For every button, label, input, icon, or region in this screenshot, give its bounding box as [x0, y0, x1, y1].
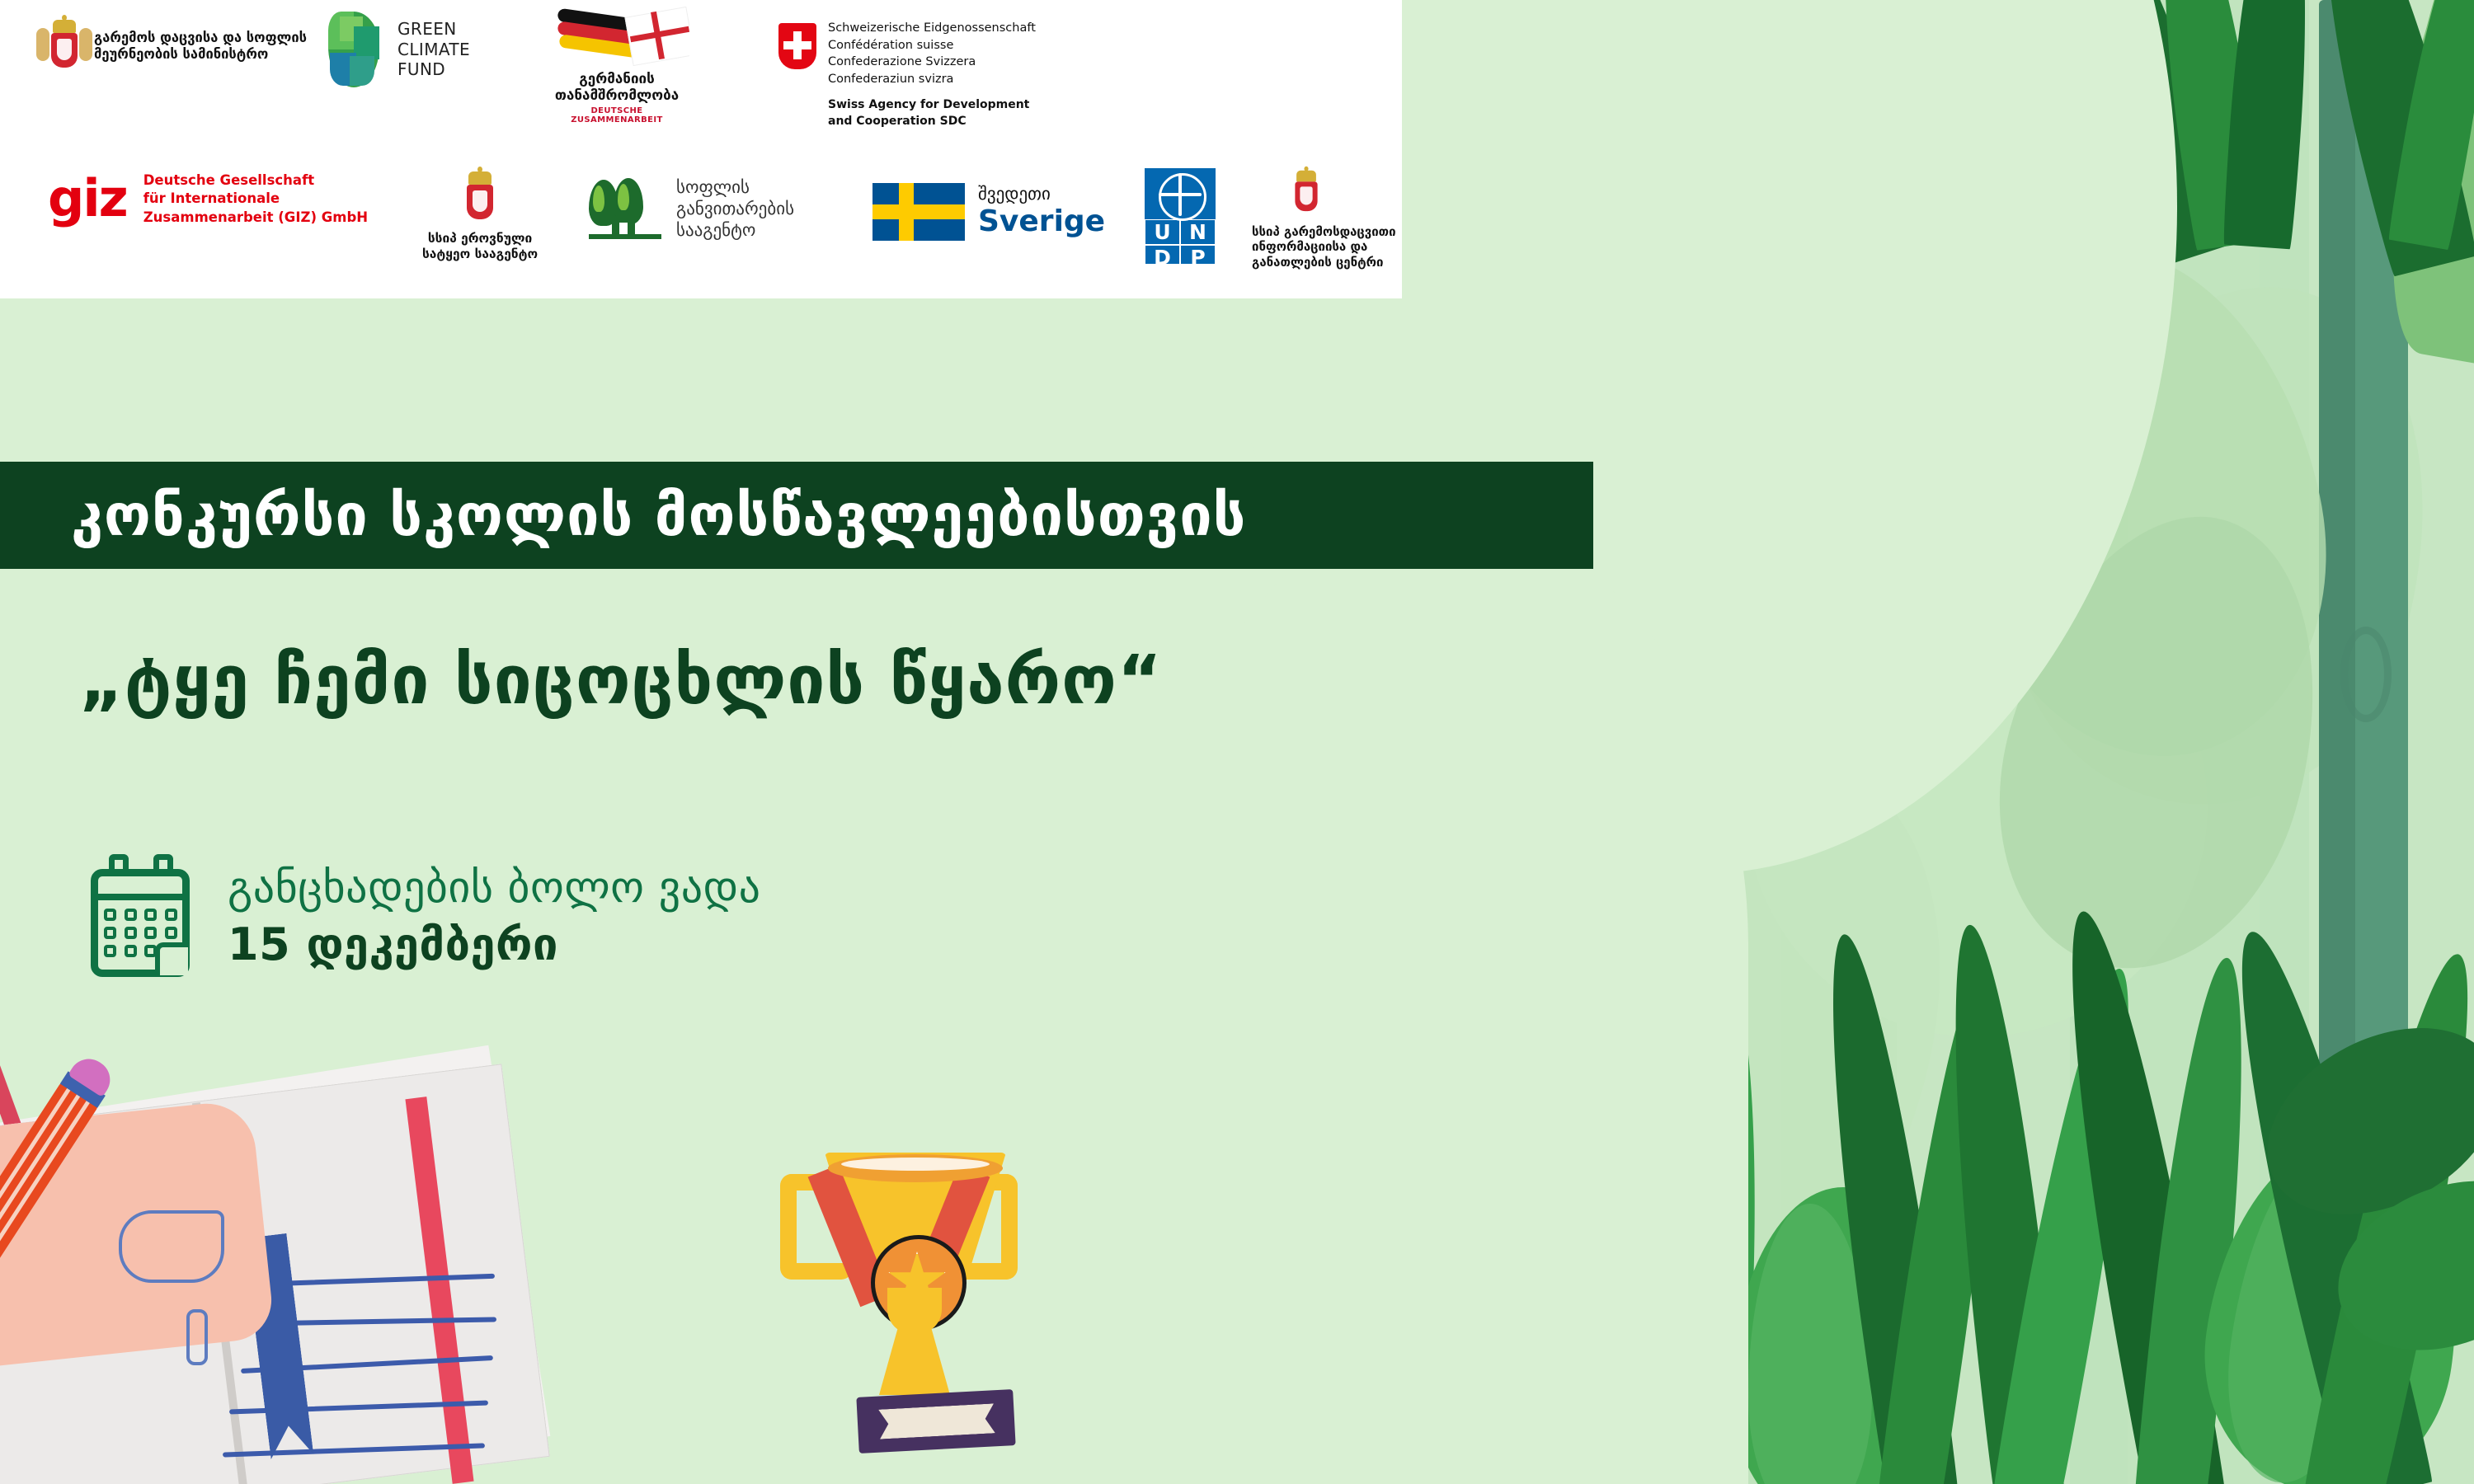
knuckle-line [119, 1210, 224, 1283]
logo-caption-line: განვითარების [676, 198, 794, 219]
undp-logo-icon: U N D P [1145, 168, 1216, 264]
logo-caption-line: FUND [397, 59, 470, 79]
calendar-icon [91, 857, 190, 977]
sweden-flag-icon [872, 183, 965, 241]
logo-caption-line: Deutsche Gesellschaft [143, 171, 368, 190]
giz-wordmark: giz [48, 177, 127, 221]
logo-caption-line: განათლების ცენტრი [1252, 255, 1396, 270]
logo-caption-line: für Internationale [143, 190, 368, 208]
undp-letter: P [1180, 245, 1216, 270]
gcf-gem-icon [322, 10, 386, 89]
logo-environmental-information-education-centre: სსიპ გარემოსდაცვითი ინფორმაციისა და განა… [1252, 167, 1396, 270]
undp-letter: N [1180, 219, 1216, 245]
logo-subcaption: DEUTSCHE ZUSAMMENARBEIT [544, 106, 689, 124]
logo-undp: U N D P [1145, 168, 1216, 264]
deadline-block: განცხადების ბოლო ვადა 15 დეკემბერი [91, 857, 761, 977]
logo-caption-line: სატყეო სააგენტო [422, 247, 538, 262]
logo-ministry-of-environmental-protection: გარემოს დაცვისა და სოფლის მეურნეობის სამ… [46, 20, 307, 73]
logo-caption-line: Confederazione Svizzera [828, 54, 1036, 71]
logo-swiss-agency-sdc: Schweizerische Eidgenossenschaft Confédé… [778, 20, 1036, 130]
gold-trophy-illustration [726, 1138, 1072, 1484]
logo-subcaption-line: Swiss Agency for Development [828, 97, 1036, 114]
german-georgian-flag-ribbon-icon [557, 7, 689, 71]
logo-national-forestry-agency: სსიპ ეროვნული სატყეო სააგენტო [422, 171, 538, 262]
logo-subcaption-line: and Cooperation SDC [828, 114, 1036, 130]
logo-caption-line: გარემოს დაცვისა და სოფლის [94, 30, 307, 46]
logo-rural-development-agency: სოფლის განვითარების სააგენტო [589, 176, 794, 241]
logo-caption-line: მეურნეობის სამინისტრო [94, 46, 307, 63]
headline-bar: კონკურსი სკოლის მოსწავლეებისთვის [0, 462, 1593, 569]
hand-writing-in-notebook-illustration [0, 1047, 528, 1484]
logo-caption-line: CLIMATE [397, 40, 470, 59]
page-title: კონკურსი სკოლის მოსწავლეებისთვის [71, 481, 1246, 549]
swiss-shield-icon [778, 23, 816, 69]
georgian-coat-of-arms-icon [1291, 171, 1321, 215]
logo-caption-line: Schweizerische Eidgenossenschaft [828, 20, 1036, 37]
logo-green-climate-fund: GREEN CLIMATE FUND [322, 10, 470, 89]
logo-caption-line: შვედეთი [978, 185, 1105, 204]
logo-sweden-sverige: შვედეთი Sverige [872, 183, 1105, 241]
poster-canvas: გარემოს დაცვისა და სოფლის მეურნეობის სამ… [0, 0, 2474, 1484]
knuckle-line [186, 1309, 208, 1365]
logo-caption-line: სააგენტო [676, 219, 794, 241]
logo-caption-line: GREEN [397, 19, 470, 39]
georgian-coat-of-arms-icon [46, 20, 82, 73]
logo-giz: giz Deutsche Gesellschaft für Internatio… [48, 171, 368, 227]
logo-caption-line: სოფლის [676, 176, 794, 198]
logo-caption-line: სსიპ ეროვნული [422, 231, 538, 247]
georgian-coat-of-arms-icon [462, 171, 498, 224]
contest-subtitle: „ტყე ჩემი სიცოცხლის წყარო“ [79, 641, 1163, 720]
logo-caption-line: Zusammenarbeit (GIZ) GmbH [143, 209, 368, 227]
partner-logo-band: გარემოს დაცვისა და სოფლის მეურნეობის სამ… [0, 0, 1402, 298]
deadline-label: განცხადების ბოლო ვადა [228, 861, 761, 916]
deadline-date: 15 დეკემბერი [228, 916, 761, 974]
logo-caption-line: სსიპ გარემოსდაცვითი [1252, 224, 1396, 239]
logo-caption-line: გერმანიის [544, 71, 689, 87]
sverige-wordmark: Sverige [978, 205, 1105, 238]
two-trees-house-icon [589, 178, 661, 239]
undp-letter: U [1145, 219, 1180, 245]
logo-caption-line: Confederaziun svizra [828, 71, 1036, 88]
logo-caption-line: თანამშრომლობა [544, 87, 689, 104]
logo-german-cooperation: გერმანიის თანამშრომლობა DEUTSCHE ZUSAMME… [544, 7, 689, 124]
undp-letter: D [1145, 245, 1180, 270]
logo-caption-line: Confédération suisse [828, 37, 1036, 54]
logo-caption-line: ინფორმაციისა და [1252, 239, 1396, 254]
